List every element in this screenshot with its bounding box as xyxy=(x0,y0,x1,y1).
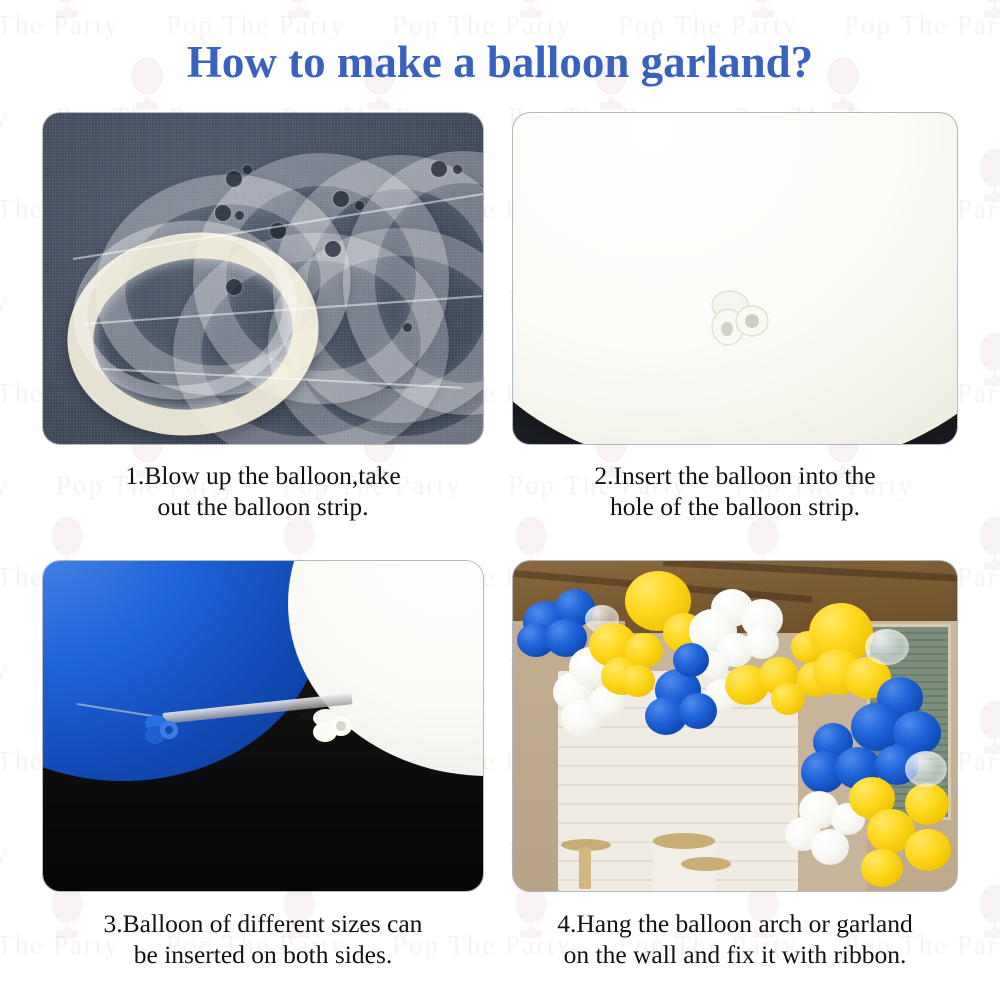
garland-balloon xyxy=(745,627,779,659)
garland-balloon-clear xyxy=(905,751,947,787)
page-title: How to make a balloon garland? xyxy=(0,36,1000,88)
garland-balloon xyxy=(621,665,655,697)
gold-cake-stand-top xyxy=(681,857,731,871)
step-4-image xyxy=(513,561,957,891)
step-3-caption-line-2: be inserted on both sides. xyxy=(43,939,483,970)
pop-the-party-logo xyxy=(968,330,1000,388)
step-4-caption: 4.Hang the balloon arch or garland on th… xyxy=(513,908,957,970)
garland-balloon xyxy=(905,783,949,825)
balloon-knot xyxy=(708,283,770,351)
watermark-text: Pop The Party xyxy=(0,286,10,316)
pop-the-party-logo xyxy=(968,698,1000,756)
pop-the-party-logo xyxy=(968,882,1000,940)
watermark-text: Pop The Party xyxy=(0,654,10,684)
strip-hole xyxy=(226,171,242,187)
step-1-image xyxy=(43,113,483,444)
garland-balloon xyxy=(679,693,717,729)
garland-balloon xyxy=(861,849,903,887)
strip-hole xyxy=(243,165,252,174)
blue-balloon-knot xyxy=(143,711,179,745)
strip-hole xyxy=(453,165,462,174)
strip-hole xyxy=(226,279,242,295)
step-2-image xyxy=(513,113,957,444)
pop-the-party-logo xyxy=(272,0,326,20)
pop-the-party-logo xyxy=(968,514,1000,572)
gold-cake-stand-top xyxy=(653,833,715,849)
step-4-caption-line-2: on the wall and fix it with ribbon. xyxy=(513,939,957,970)
step-1-caption-line-2: out the balloon strip. xyxy=(43,491,483,522)
step-3-caption-line-1: 3.Balloon of different sizes can xyxy=(43,908,483,939)
strip-hole xyxy=(235,211,244,220)
pop-the-party-logo xyxy=(40,0,94,20)
step-2-caption-line-1: 2.Insert the balloon into the xyxy=(513,460,957,491)
step-2-caption-line-2: hole of the balloon strip. xyxy=(513,491,957,522)
gold-cake-stand-stem xyxy=(579,847,591,889)
page-title-text: How to make a balloon garland? xyxy=(187,37,813,87)
pop-the-party-logo xyxy=(504,0,558,20)
watermark-text: Pop The Party xyxy=(0,838,10,868)
white-balloon xyxy=(513,113,957,444)
step-1-caption-line-1: 1.Blow up the balloon,take xyxy=(43,460,483,491)
strip-hole xyxy=(325,241,341,257)
step-3-caption: 3.Balloon of different sizes can be inse… xyxy=(43,908,483,970)
pop-the-party-logo xyxy=(968,0,1000,20)
step-2-caption: 2.Insert the balloon into the hole of th… xyxy=(513,460,957,522)
step-1-caption: 1.Blow up the balloon,take out the ballo… xyxy=(43,460,483,522)
garland-balloon xyxy=(625,633,663,668)
pop-the-party-logo xyxy=(968,146,1000,204)
garland-balloon xyxy=(673,643,709,677)
strip-hole xyxy=(333,191,349,207)
watermark-text: Pop The Party xyxy=(0,470,10,500)
strip-hole xyxy=(431,161,447,177)
pop-the-party-logo xyxy=(736,0,790,20)
step-4-caption-line-1: 4.Hang the balloon arch or garland xyxy=(513,908,957,939)
garland-balloon-clear xyxy=(865,629,909,665)
strip-hole xyxy=(215,205,231,221)
step-3-image xyxy=(43,561,483,891)
strip-hole xyxy=(403,323,412,332)
strip-hole xyxy=(355,201,364,210)
watermark-text: Pop The Party xyxy=(0,102,10,132)
white-balloon-knot xyxy=(311,705,353,743)
garland-balloon xyxy=(905,829,951,871)
